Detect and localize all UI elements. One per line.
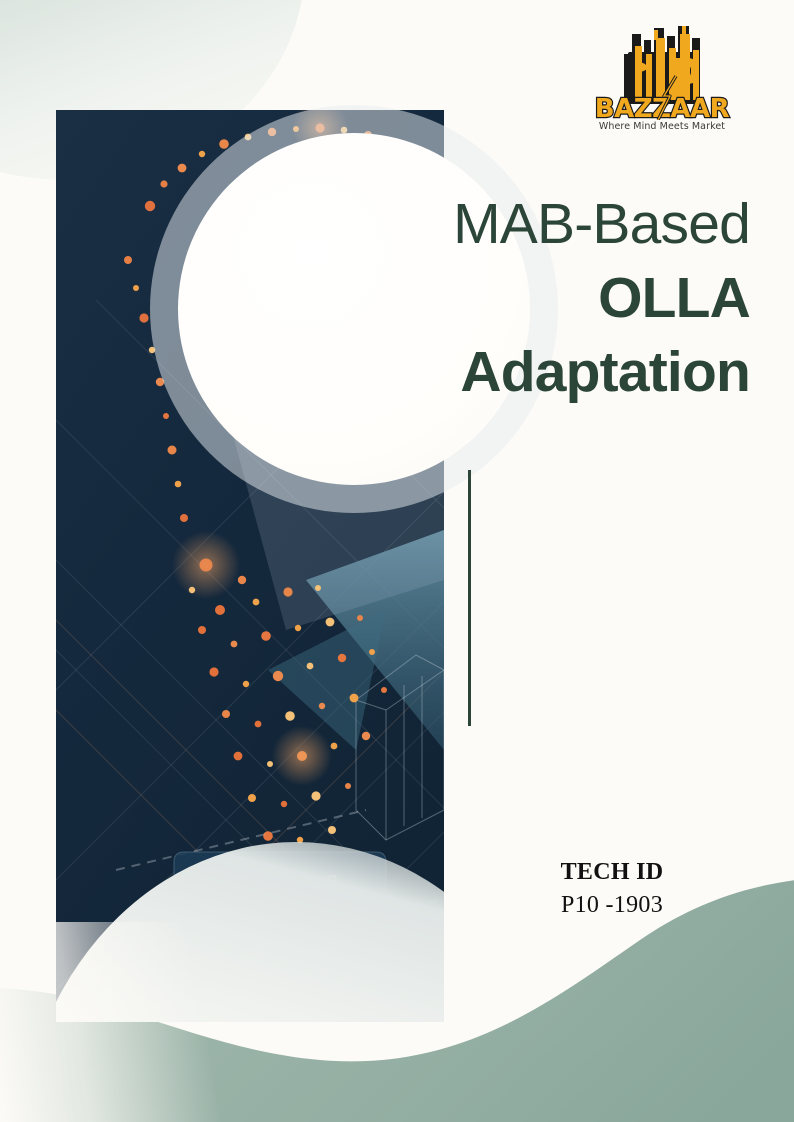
page-title: MAB-Based OLLA Adaptation [330,196,750,401]
brand-tagline: Where Mind Meets Market [588,121,736,132]
title-divider-rule [468,470,471,726]
svg-text:BAZZAAR: BAZZAAR [595,94,730,120]
bazzaar-skyline-icon: BAZZAAR [588,24,736,120]
cover-page: Pace inEExeniR [0,0,794,1122]
tech-id-block: TECH ID P10 -1903 [470,858,754,922]
title-line-3: Adaptation [330,344,750,401]
title-line-1: MAB-Based [330,196,750,253]
brand-logo: BAZZAAR Where Mind Meets Market [588,24,736,132]
tech-id-value: P10 -1903 [470,890,754,921]
tech-id-label: TECH ID [470,858,754,886]
title-line-2: OLLA [330,270,750,327]
